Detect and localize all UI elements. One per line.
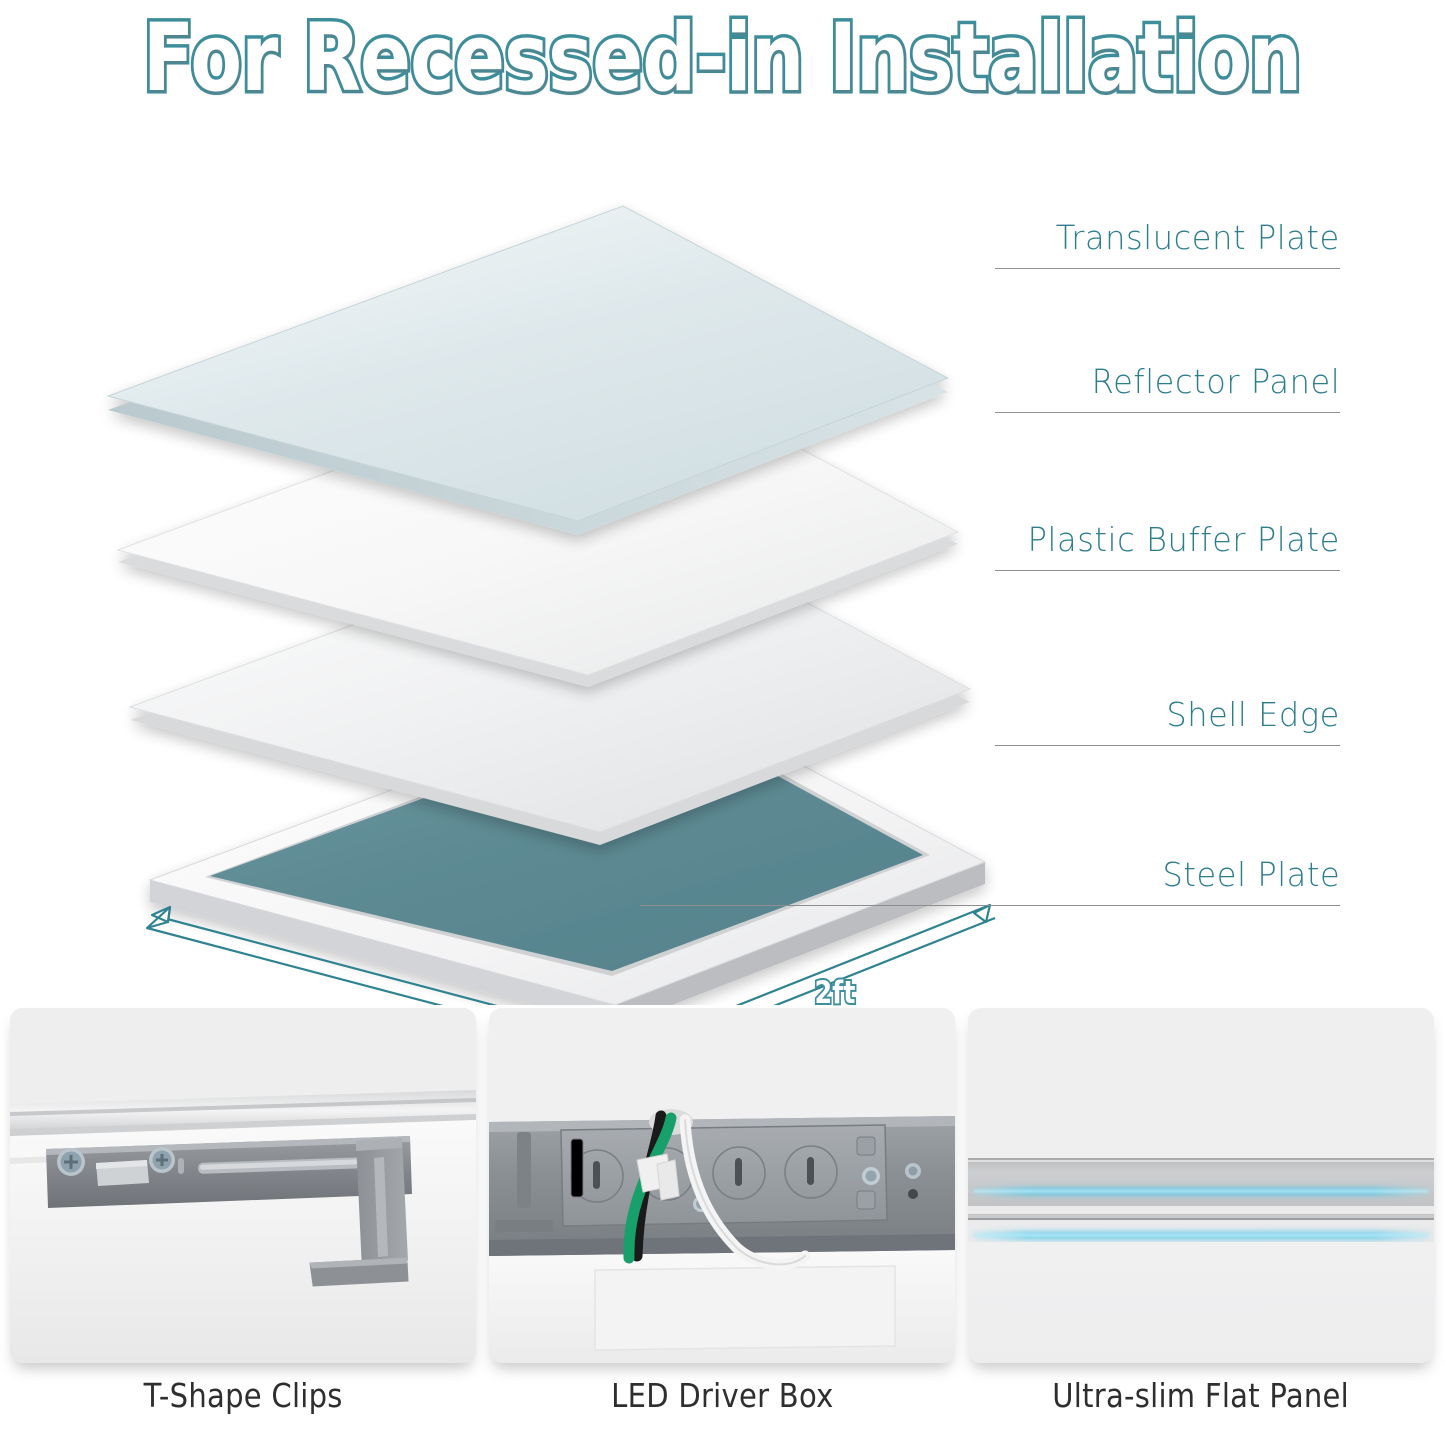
photo-led-driver-box [489,1008,955,1363]
leader-line-steel-plate [640,905,1340,906]
label-translucent-plate: Translucent Plate [1056,218,1340,257]
page-title: For Recessed-in Installation [143,9,1302,109]
photo-cell-ultra-slim-flat-panel: Ultra-slim Flat Panel [968,1008,1434,1363]
label-steel-plate: Steel Plate [1162,855,1340,894]
caption-ultra-slim-flat-panel: Ultra-slim Flat Panel [968,1376,1434,1415]
title-banner: For Recessed-in Installation [0,4,1445,114]
leader-line-plastic-buffer-plate [995,570,1340,571]
leader-line-reflector-panel [995,412,1340,413]
photo-cell-led-driver-box: LED Driver Box [489,1008,955,1363]
caption-text: T-Shape Clips [143,1376,342,1415]
caption-text: Ultra-slim Flat Panel [1053,1376,1350,1415]
photo-cell-t-shape-clips: T-Shape Clips [10,1008,476,1363]
detail-photo-row: T-Shape Clips [0,1008,1445,1445]
infographic-page: For Recessed-in Installation [0,0,1445,1445]
label-reflector-panel: Reflector Panel [1091,362,1340,401]
exploded-view-diagram: Translucent Plate Reflector Panel Plasti… [0,110,1445,1005]
caption-t-shape-clips: T-Shape Clips [10,1376,476,1415]
photo-t-shape-clips [10,1008,476,1363]
caption-led-driver-box: LED Driver Box [489,1376,955,1415]
leader-line-translucent-plate [995,268,1340,269]
label-shell-edge: Shell Edge [1166,695,1340,734]
driver-box [561,1125,921,1226]
caption-text: LED Driver Box [611,1376,833,1415]
photo-ultra-slim-flat-panel [968,1008,1434,1363]
dimension-2ft-right: 2ft [814,975,855,1011]
leader-line-shell-edge [995,745,1340,746]
label-plastic-buffer-plate: Plastic Buffer Plate [1028,520,1340,559]
